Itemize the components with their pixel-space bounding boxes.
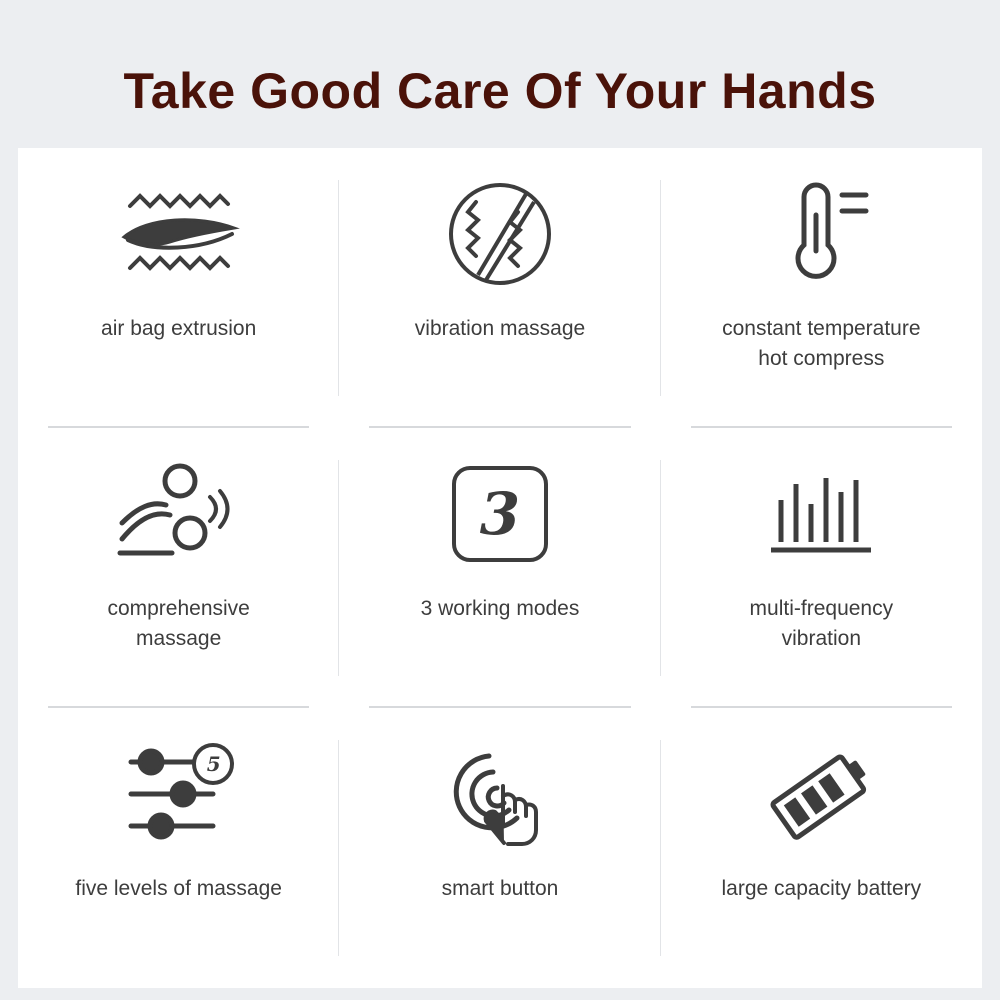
feature-label: comprehensive massage [107, 594, 249, 655]
vibration-circle-icon [448, 178, 552, 290]
mode-count-value: 3 [451, 465, 549, 563]
feature-label: smart button [442, 874, 559, 904]
feature-label-line2: massage [136, 627, 221, 650]
thermometer-heat-icon [766, 178, 876, 290]
hand-touch-button-icon [445, 738, 555, 850]
feature-item-working-modes: 3 3 working modes [339, 428, 660, 708]
sliders-level-icon: 5 [117, 738, 241, 850]
number-three-box-icon: 3 [451, 458, 549, 570]
feature-label: large capacity battery [722, 874, 922, 904]
airbag-compression-icon [114, 178, 244, 290]
page-title: Take Good Care Of Your Hands [0, 0, 1000, 116]
feature-label: multi-frequency vibration [750, 594, 894, 655]
promo-infographic: Take Good Care Of Your Hands air bag [0, 0, 1000, 1000]
feature-label: five levels of massage [75, 874, 282, 904]
frequency-bars-icon [765, 458, 877, 570]
level-count-value: 5 [201, 750, 227, 778]
feature-label: air bag extrusion [101, 314, 256, 344]
feature-item-hot-compress: constant temperature hot compress [661, 148, 982, 428]
feature-item-five-levels: 5 five levels of massage [18, 708, 339, 988]
feature-label-line2: hot compress [758, 347, 884, 370]
feature-label: constant temperature hot compress [722, 314, 920, 375]
feature-item-smart-button: smart button [339, 708, 660, 988]
person-lying-massage-icon [114, 458, 244, 570]
feature-item-comprehensive-massage: comprehensive massage [18, 428, 339, 708]
feature-label-line1: constant temperature [722, 317, 920, 340]
feature-item-air-bag-extrusion: air bag extrusion [18, 148, 339, 428]
battery-full-icon [763, 738, 879, 850]
feature-label-line1: multi-frequency [750, 597, 894, 620]
feature-label: 3 working modes [421, 594, 580, 624]
feature-item-battery: large capacity battery [661, 708, 982, 988]
feature-label-line1: comprehensive [107, 597, 249, 620]
feature-grid: air bag extrusion vibration massage [18, 148, 982, 988]
feature-label-line2: vibration [782, 627, 861, 650]
feature-label: vibration massage [415, 314, 585, 344]
feature-card: air bag extrusion vibration massage [18, 148, 982, 988]
feature-item-multi-frequency-vibration: multi-frequency vibration [661, 428, 982, 708]
feature-item-vibration-massage: vibration massage [339, 148, 660, 428]
